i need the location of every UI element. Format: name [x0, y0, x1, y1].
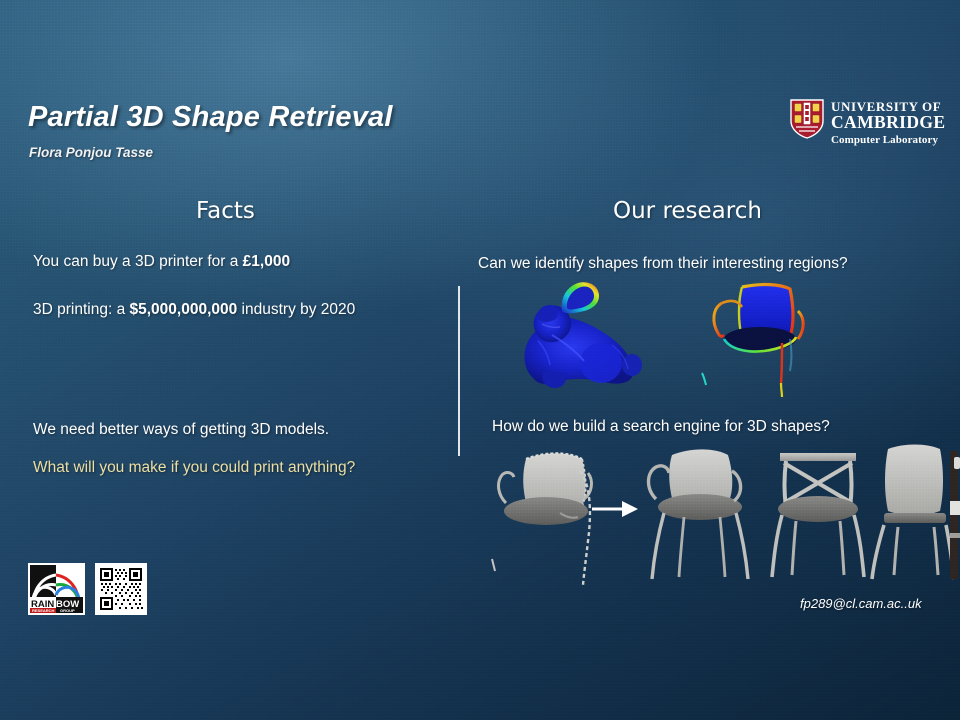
- query-chair: [492, 453, 591, 585]
- poster-canvas: Partial 3D Shape Retrieval Flora Ponjou …: [0, 0, 960, 720]
- qr-code-icon[interactable]: [95, 563, 147, 615]
- retrieval-arrow-icon: [592, 501, 638, 517]
- page-title: Partial 3D Shape Retrieval: [28, 101, 393, 134]
- cambridge-line-2: CAMBRIDGE: [831, 114, 945, 132]
- column-divider: [458, 286, 460, 456]
- research-question-2: How do we build a search engine for 3D s…: [492, 418, 830, 436]
- result-chair-3: [872, 445, 954, 580]
- fact-2-prefix: 3D printing: a: [33, 301, 130, 318]
- heatmap-bunny-figure: [492, 275, 682, 395]
- call-to-action-text: What will you make if you could print an…: [33, 459, 355, 477]
- contact-email[interactable]: fp289@cl.cam.ac..uk: [800, 596, 922, 611]
- cambridge-shield-icon: [790, 99, 824, 144]
- result-chair-1: [649, 449, 749, 579]
- fact-2-emphasis: $5,000,000,000: [130, 301, 238, 318]
- chair-retrieval-figure: [484, 441, 960, 589]
- author-name: Flora Ponjou Tasse: [29, 145, 153, 160]
- fact-item-2: 3D printing: a $5,000,000,000 industry b…: [33, 301, 355, 319]
- fact-item-1: You can buy a 3D printer for a £1,000: [33, 253, 290, 271]
- rainbow-sub-left: RESEARCH: [32, 608, 55, 613]
- fact-1-prefix: You can buy a 3D printer for a: [33, 253, 243, 270]
- research-question-1: Can we identify shapes from their intere…: [478, 255, 848, 273]
- result-chair-2: [772, 453, 864, 577]
- heatmap-chair-figure: [686, 281, 861, 399]
- rainbow-research-group-logo: RAIN BOW RESEARCH GROUP: [28, 563, 85, 615]
- cambridge-logo: UNIVERSITY OF CAMBRIDGE Computer Laborat…: [790, 99, 945, 146]
- research-section-header: Our research: [613, 198, 762, 224]
- fact-2-suffix: industry by 2020: [237, 301, 355, 318]
- facts-section-header: Facts: [196, 198, 255, 224]
- fact-item-3: We need better ways of getting 3D models…: [33, 421, 329, 439]
- cambridge-department: Computer Laboratory: [831, 135, 945, 146]
- fact-1-emphasis: £1,000: [243, 253, 290, 270]
- cambridge-wordmark: UNIVERSITY OF CAMBRIDGE Computer Laborat…: [831, 99, 945, 146]
- result-chair-4: [950, 451, 960, 579]
- rainbow-sub-right: GROUP: [60, 608, 75, 613]
